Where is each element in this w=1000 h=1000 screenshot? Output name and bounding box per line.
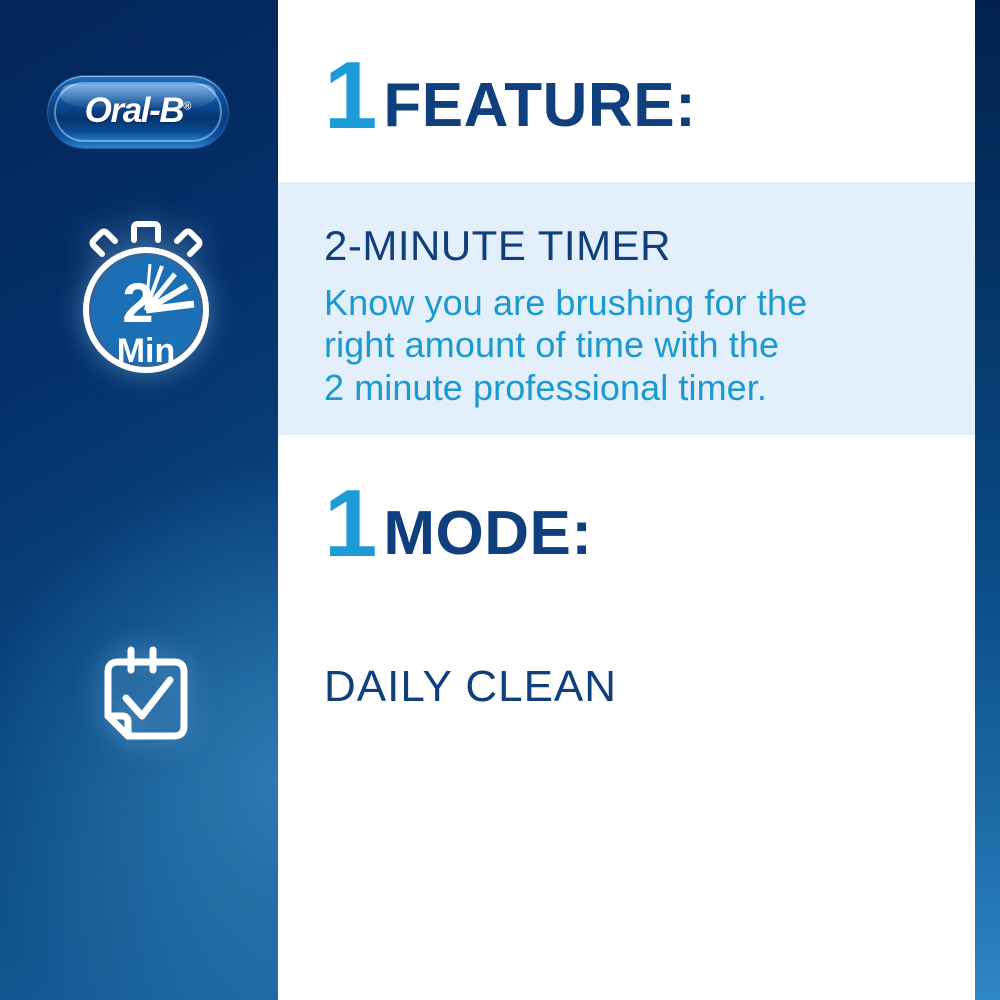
calendar-check-icon: [98, 642, 194, 750]
mode-value: DAILY CLEAN: [324, 662, 617, 712]
feature-count-word: FEATURE:: [383, 71, 696, 140]
right-edge-accent-strip: [975, 0, 1000, 1000]
timer-secondary-label: Min: [117, 332, 176, 370]
brand-sidebar: Oral-B®: [0, 0, 278, 1000]
logo-wordmark: Oral-B®: [48, 91, 228, 131]
product-feature-infographic: Oral-B®: [0, 0, 1000, 1000]
feature-description-line: right amount of time with the: [324, 324, 924, 366]
calendar-check-icon-svg: [98, 642, 194, 750]
feature-description-line: 2 minute professional timer.: [324, 367, 924, 409]
timer-icon: 2 Min: [72, 218, 220, 376]
oral-b-logo: Oral-B®: [48, 76, 228, 148]
feature-headline: 1FEATURE:: [324, 48, 696, 144]
feature-description-line: Know you are brushing for the: [324, 282, 924, 324]
feature-count: 1: [324, 42, 373, 149]
mode-headline: 1MODE:: [324, 476, 593, 572]
timer-primary-label: 2: [122, 271, 153, 334]
content-area: 1FEATURE: 2-MINUTE TIMER Know you are br…: [278, 0, 975, 1000]
mode-count: 1: [324, 470, 373, 577]
mode-count-word: MODE:: [383, 499, 592, 568]
feature-title: 2-MINUTE TIMER: [324, 222, 671, 270]
feature-description: Know you are brushing for the right amou…: [324, 282, 924, 409]
logo-wordmark-text: Oral-B: [85, 91, 184, 130]
timer-icon-svg: 2 Min: [72, 218, 220, 376]
feature-detail-panel: 2-MINUTE TIMER Know you are brushing for…: [278, 182, 975, 435]
registered-trademark-icon: ®: [183, 101, 191, 113]
